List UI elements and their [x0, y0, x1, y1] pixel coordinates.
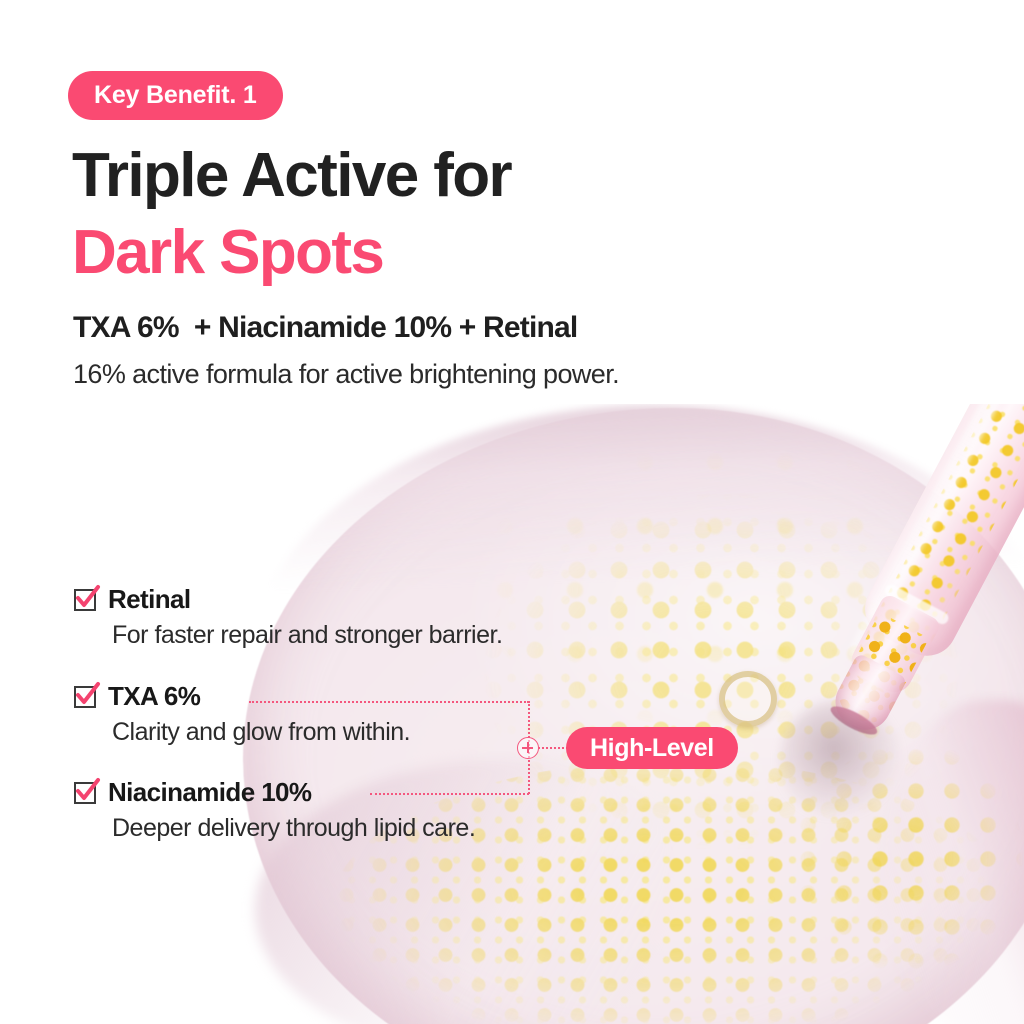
formula-ingredients-line: TXA 6% + Niacinamide 10% + Retinal	[73, 311, 577, 345]
benefit-title: Retinal	[108, 584, 190, 615]
checkbox-checked-icon	[74, 686, 96, 708]
product-benefit-infographic: Key Benefit. 1 Triple Active for Dark Sp…	[0, 0, 1024, 1024]
benefit-item-txa: TXA 6% Clarity and glow from within.	[74, 681, 410, 747]
high-level-badge-label: High-Level	[590, 734, 714, 763]
benefit-description: Clarity and glow from within.	[112, 718, 410, 747]
benefit-title-row: Retinal	[74, 584, 502, 615]
checkbox-checked-icon	[74, 782, 96, 804]
benefit-title: Niacinamide 10%	[108, 777, 311, 808]
formula-description-line: 16% active formula for active brightenin…	[73, 359, 619, 390]
benefit-item-niacinamide: Niacinamide 10% Deeper delivery through …	[74, 777, 475, 843]
benefit-description: Deeper delivery through lipid care.	[112, 814, 475, 843]
benefit-title-row: TXA 6%	[74, 681, 410, 712]
key-benefit-badge: Key Benefit. 1	[68, 71, 283, 120]
page-title: Triple Active for Dark Spots	[72, 138, 511, 292]
plus-connector-icon	[517, 737, 539, 759]
key-benefit-badge-label: Key Benefit. 1	[94, 81, 257, 110]
content-layer: Key Benefit. 1 Triple Active for Dark Sp…	[0, 0, 1024, 1024]
benefit-title: TXA 6%	[108, 681, 200, 712]
headline-line-1: Triple Active for	[72, 141, 511, 210]
bracket-line-to-pill	[538, 747, 568, 749]
headline-line-2: Dark Spots	[72, 215, 511, 292]
bracket-line-bottom	[370, 793, 529, 795]
benefit-description: For faster repair and stronger barrier.	[112, 621, 502, 650]
high-level-badge: High-Level	[566, 727, 738, 769]
bracket-line-top	[249, 701, 529, 703]
benefit-item-retinal: Retinal For faster repair and stronger b…	[74, 584, 502, 650]
checkbox-checked-icon	[74, 589, 96, 611]
